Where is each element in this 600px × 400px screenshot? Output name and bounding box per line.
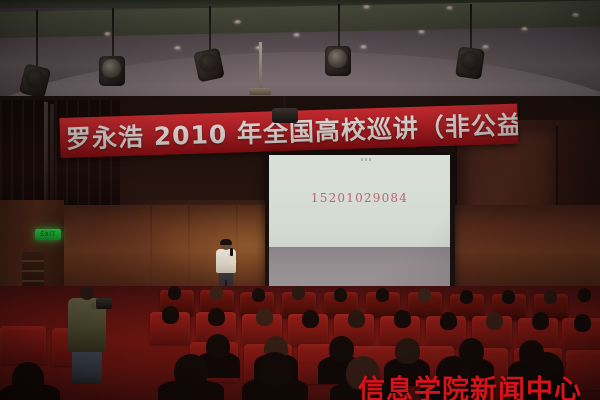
ceiling-downlight: [521, 27, 528, 31]
photographer: [64, 286, 110, 381]
ceiling-downlight: [104, 32, 111, 36]
speaker-hair: [220, 239, 232, 245]
light-support-rod: [470, 4, 472, 50]
ceiling-downlight: [482, 45, 489, 49]
stage-light-fixture: [325, 46, 351, 76]
audience-head: [302, 310, 319, 328]
audience-head: [258, 352, 292, 386]
handheld-microphone: [230, 248, 233, 256]
ceiling-projector: [272, 108, 298, 123]
ceiling-downlight: [363, 5, 370, 9]
light-support-rod: [209, 6, 211, 52]
projection-screen: 15201029084: [269, 155, 450, 296]
audience-head: [256, 308, 273, 326]
stage-light-fixture: [455, 46, 485, 79]
ceiling-downlight: [572, 13, 579, 17]
audience-head: [574, 314, 591, 332]
microphone-stand-pole: [259, 42, 262, 90]
audience-head: [502, 290, 515, 304]
exit-sign: EXIT: [35, 229, 61, 240]
ceiling-downlight: [446, 6, 453, 10]
theater-seat: [0, 326, 46, 364]
light-support-rod: [112, 8, 114, 58]
audience-head: [395, 338, 420, 364]
curtain-fold: [44, 102, 48, 208]
ladder-rung: [22, 280, 44, 282]
screen-top-marks: [361, 158, 371, 161]
exit-sign-label: EXIT: [40, 231, 55, 238]
light-support-rod: [338, 4, 340, 48]
stage-light-fixture: [99, 56, 125, 86]
audience-head: [210, 286, 223, 300]
audience-head: [292, 286, 305, 300]
audience-head: [168, 286, 181, 300]
ceiling-downlight: [360, 45, 367, 49]
audience-head: [162, 306, 179, 324]
audience-head: [544, 290, 557, 304]
audience-head: [174, 354, 208, 388]
camera: [96, 298, 112, 309]
audience-head: [440, 312, 457, 330]
audience-head: [206, 334, 230, 359]
ceiling-downlight: [293, 33, 300, 37]
audience-head: [486, 312, 503, 330]
audience-head: [252, 288, 265, 302]
audience-head: [460, 290, 473, 304]
screen-displayed-number: 15201029084: [269, 191, 450, 205]
audience-head: [329, 336, 354, 362]
audience-head: [376, 288, 389, 302]
ladder-rung: [22, 270, 44, 272]
auditorium-photo: EXIT 罗永浩 2010 年全国高校巡讲（非公益 15201029084: [0, 0, 600, 400]
audience-head: [12, 362, 44, 394]
audience-head: [208, 308, 225, 326]
microphone-stand-base: [249, 88, 271, 95]
audience-head: [348, 310, 365, 328]
ladder-rung: [22, 260, 44, 262]
watermark-text: 信息学院新闻中心: [358, 368, 582, 400]
ceiling-downlight: [174, 46, 181, 50]
audience-head: [334, 288, 347, 302]
audience-head: [578, 288, 591, 302]
ceiling-downlight: [418, 30, 425, 34]
photographer-head: [80, 286, 94, 300]
photographer-legs: [72, 350, 102, 384]
ceiling-downlight: [234, 20, 241, 24]
audience-head: [418, 288, 431, 302]
audience-head: [394, 310, 411, 328]
curtain-fold: [50, 104, 54, 206]
audience-head: [532, 312, 549, 330]
light-support-rod: [36, 10, 38, 68]
